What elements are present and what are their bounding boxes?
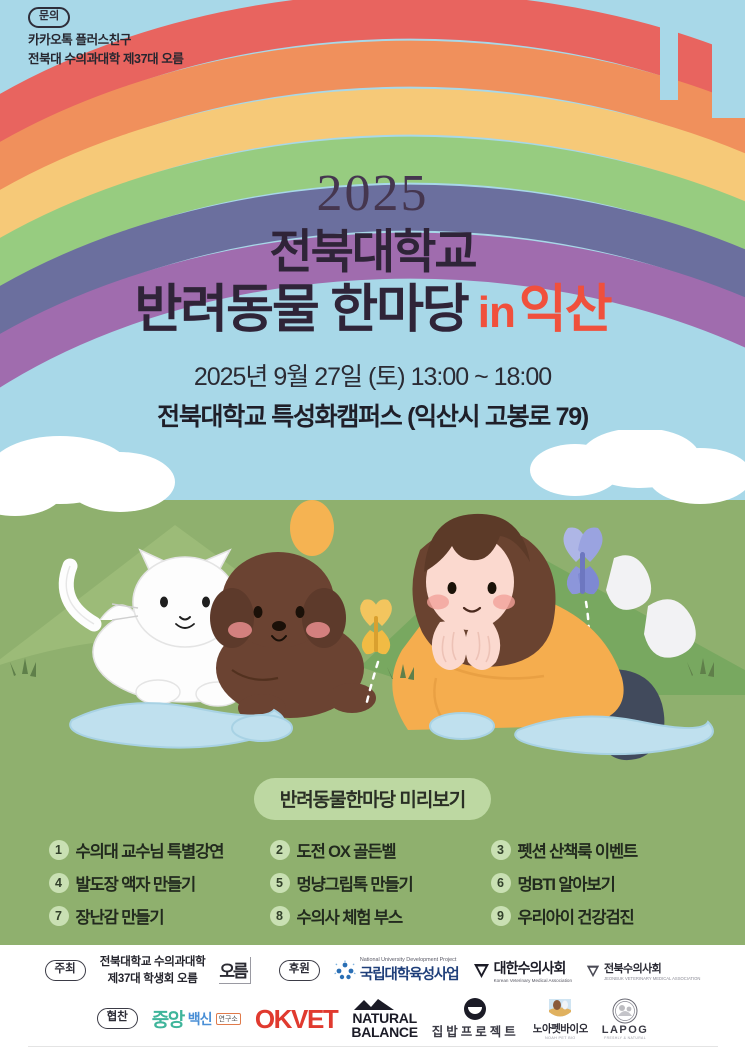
okvet-logo: OKVET xyxy=(255,1006,338,1032)
lapog-subtitle: FRESHLY & NATURAL xyxy=(604,1036,646,1040)
lapog-crest-icon xyxy=(610,998,640,1024)
program-item-label: 멍냥그립톡 만들기 xyxy=(297,871,413,895)
program-item-label: 수의대 교수님 특별강연 xyxy=(76,838,224,862)
program-item-number: 6 xyxy=(491,873,511,893)
nudp-name-ko: 국립대학육성사업 xyxy=(360,963,459,984)
natural-balance-text: NATURAL BALANCE xyxy=(351,1011,417,1040)
program-item-number: 7 xyxy=(49,906,69,926)
program-item[interactable]: 9 우리아이 건강검진 xyxy=(491,904,697,928)
program-section: 반려동물한마당 미리보기 1 수의대 교수님 특별강연 2 도전 OX 골든벨 … xyxy=(0,778,745,928)
program-item-label: 펫션 산책룩 이벤트 xyxy=(518,838,638,862)
contact-badge: 문의 xyxy=(28,7,70,28)
poster-root: 문의 카카오톡 플러스친구 전북대 수의과대학 제37대 오름 2025 전북대… xyxy=(0,0,745,1052)
cavac-logo: 중앙 백신 연구소 xyxy=(152,1005,241,1032)
cavac-name-part3: 연구소 xyxy=(216,1013,241,1025)
program-item-number: 3 xyxy=(491,840,511,860)
event-venue: 전북대학교 특성화캠퍼스 (익산시 고봉로 79) xyxy=(0,401,745,434)
program-item-number: 4 xyxy=(49,873,69,893)
program-item[interactable]: 2 도전 OX 골든벨 xyxy=(270,838,476,862)
program-item[interactable]: 1 수의대 교수님 특별강연 xyxy=(49,838,255,862)
bowl-icon xyxy=(463,997,487,1021)
title-in-word: in xyxy=(478,288,515,337)
support-role-pill: 후원 xyxy=(279,960,320,981)
footer-row-sponsors: 협찬 중앙 백신 연구소 OKVET NATURAL BALANCE xyxy=(0,987,745,1040)
host-line-2: 제37대 학생회 오름 xyxy=(100,971,206,988)
program-grid: 1 수의대 교수님 특별강연 2 도전 OX 골든벨 3 펫션 산책룩 이벤트 … xyxy=(49,838,697,928)
natural-balance-logo: NATURAL BALANCE xyxy=(351,998,417,1040)
cavac-name-part1: 중앙 xyxy=(152,1005,184,1032)
nudp-text: National University Development Project … xyxy=(360,957,459,984)
nudp-logo: National University Development Project … xyxy=(334,957,459,984)
kvma-name-ko: 대한수의사회 xyxy=(494,958,572,978)
program-item-number: 1 xyxy=(49,840,69,860)
program-item[interactable]: 5 멍냥그립톡 만들기 xyxy=(270,871,476,895)
program-item-label: 장난감 만들기 xyxy=(76,904,164,928)
program-item-label: 도전 OX 골든벨 xyxy=(297,838,396,862)
program-item-label: 우리아이 건강검진 xyxy=(518,904,634,928)
nb-line-2: BALANCE xyxy=(351,1025,417,1039)
lapog-name: LAPOG xyxy=(602,1024,649,1036)
noah-name-en: NOAH PET BIO xyxy=(545,1036,576,1040)
jibbap-name: 집밥프로젝트 xyxy=(432,1021,519,1040)
host-organization: 전북대학교 수의과대학 제37대 학생회 오름 xyxy=(100,954,206,987)
okvet-name: OKVET xyxy=(255,1004,338,1034)
kvma-name-en: Korean Veterinary Medical Association xyxy=(494,978,572,983)
program-item[interactable]: 7 장난감 만들기 xyxy=(49,904,255,928)
host-role-pill: 주최 xyxy=(45,960,86,981)
oreum-logo-text: 오름 xyxy=(219,957,250,984)
jvma-name-en: JEONBUK VETERINARY MEDICAL ASSOCIATION xyxy=(604,976,700,981)
title-year: 2025 xyxy=(0,168,745,220)
title-city: 익산 xyxy=(519,281,611,339)
jvma-logo: 전북수의사회 JEONBUK VETERINARY MEDICAL ASSOCI… xyxy=(586,960,700,981)
program-item-number: 9 xyxy=(491,906,511,926)
noah-name-ko: 노아펫바이오 xyxy=(533,1021,588,1036)
footer-row-host: 주최 전북대학교 수의과대학 제37대 학생회 오름 오름 후원 xyxy=(0,945,745,987)
program-item[interactable]: 4 발도장 액자 만들기 xyxy=(49,871,255,895)
jvma-name-ko: 전북수의사회 xyxy=(604,960,700,976)
contact-line-kakao: 카카오톡 플러스친구 xyxy=(28,31,184,50)
kvma-logo: 대한수의사회 Korean Veterinary Medical Associa… xyxy=(473,958,572,983)
contact-line-org: 전북대 수의과대학 제37대 오름 xyxy=(28,50,184,69)
lapog-logo: LAPOG FRESHLY & NATURAL xyxy=(602,998,649,1040)
program-item[interactable]: 8 수의사 체험 부스 xyxy=(270,904,476,928)
footer-divider xyxy=(28,1046,718,1047)
oreum-logo: 오름 xyxy=(219,957,250,984)
program-item-label: 수의사 체험 부스 xyxy=(297,904,403,928)
title-university: 전북대학교 xyxy=(0,226,745,279)
footer-section: 주최 전북대학교 수의과대학 제37대 학생회 오름 오름 후원 xyxy=(0,945,745,1052)
cavac-name-part2: 백신 xyxy=(188,1009,212,1029)
event-date: 2025년 9월 27일 (토) 13:00 ~ 18:00 xyxy=(0,361,745,394)
noah-crest-icon xyxy=(547,997,573,1021)
title-block: 2025 전북대학교 반려동물 한마당in익산 2025년 9월 27일 (토)… xyxy=(0,168,745,434)
sun-icon xyxy=(290,500,334,556)
jvma-shield-icon xyxy=(586,964,600,978)
kvma-shield-icon xyxy=(473,962,490,979)
program-badge-row: 반려동물한마당 미리보기 xyxy=(0,778,745,820)
program-item-number: 5 xyxy=(270,873,290,893)
program-preview-badge: 반려동물한마당 미리보기 xyxy=(254,778,492,820)
program-item-label: 발도장 액자 만들기 xyxy=(76,871,196,895)
program-item[interactable]: 6 멍BTI 알아보기 xyxy=(491,871,697,895)
noah-pet-bio-logo: 노아펫바이오 NOAH PET BIO xyxy=(533,997,588,1040)
kvma-text: 대한수의사회 Korean Veterinary Medical Associa… xyxy=(494,958,572,983)
title-main: 반려동물 한마당in익산 xyxy=(0,281,745,339)
nb-line-1: NATURAL xyxy=(351,1011,417,1025)
title-main-korean: 반려동물 한마당 xyxy=(134,281,467,339)
program-item-number: 8 xyxy=(270,906,290,926)
jibbap-logo: 집밥프로젝트 xyxy=(432,997,519,1040)
contact-block: 문의 카카오톡 플러스친구 전북대 수의과대학 제37대 오름 xyxy=(28,6,184,68)
sponsor-role-pill: 협찬 xyxy=(97,1008,138,1029)
jvma-text: 전북수의사회 JEONBUK VETERINARY MEDICAL ASSOCI… xyxy=(604,960,700,981)
program-item[interactable]: 3 펫션 산책룩 이벤트 xyxy=(491,838,697,862)
host-line-1: 전북대학교 수의과대학 xyxy=(100,954,206,971)
nudp-mark-icon xyxy=(334,960,356,982)
program-item-label: 멍BTI 알아보기 xyxy=(518,871,615,895)
program-item-number: 2 xyxy=(270,840,290,860)
